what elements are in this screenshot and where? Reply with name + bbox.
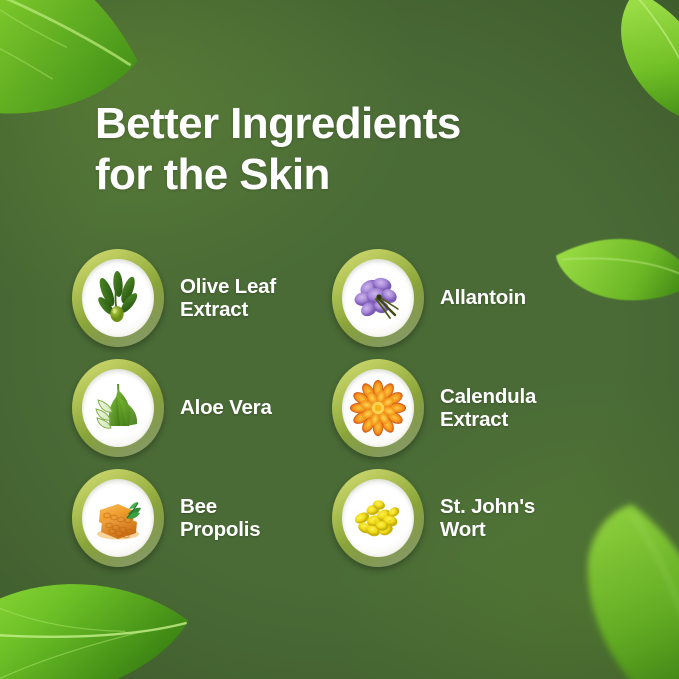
ingredient-badge [332, 359, 424, 457]
olive-branch-icon [82, 259, 154, 337]
ingredient-badge [72, 249, 164, 347]
leaf-top-right-icon [583, 0, 679, 137]
ingredient-label: St. John's Wort [440, 495, 535, 542]
ingredient-item-bee-propolis[interactable]: Bee Propolis [72, 463, 332, 573]
calendula-flower-icon [342, 369, 414, 447]
ingredient-label: Bee Propolis [180, 495, 260, 542]
ingredient-label: Aloe Vera [180, 396, 272, 419]
ingredient-item-olive-leaf-extract[interactable]: Olive Leaf Extract [72, 243, 332, 353]
st-johns-wort-flower-icon [342, 479, 414, 557]
comfrey-flower-icon [342, 259, 414, 337]
aloe-vera-icon [82, 369, 154, 447]
ingredient-badge [72, 469, 164, 567]
honeycomb-icon [82, 479, 154, 557]
ingredient-label: Allantoin [440, 286, 526, 309]
ingredient-item-aloe-vera[interactable]: Aloe Vera [72, 353, 332, 463]
ingredient-label: Calendula Extract [440, 385, 536, 432]
ingredients-poster: Better Ingredients for the Skin [0, 0, 679, 679]
ingredient-label: Olive Leaf Extract [180, 275, 276, 322]
leaf-bottom-left-icon [0, 563, 212, 679]
ingredient-badge [332, 249, 424, 347]
ingredient-item-calendula-extract[interactable]: Calendula Extract [332, 353, 592, 463]
ingredients-grid: Olive Leaf Extract [72, 243, 632, 573]
ingredient-badge [332, 469, 424, 567]
ingredient-item-st-johns-wort[interactable]: St. John's Wort [332, 463, 592, 573]
ingredient-item-allantoin[interactable]: Allantoin [332, 243, 592, 353]
page-title: Better Ingredients for the Skin [95, 98, 565, 201]
ingredient-badge [72, 359, 164, 457]
